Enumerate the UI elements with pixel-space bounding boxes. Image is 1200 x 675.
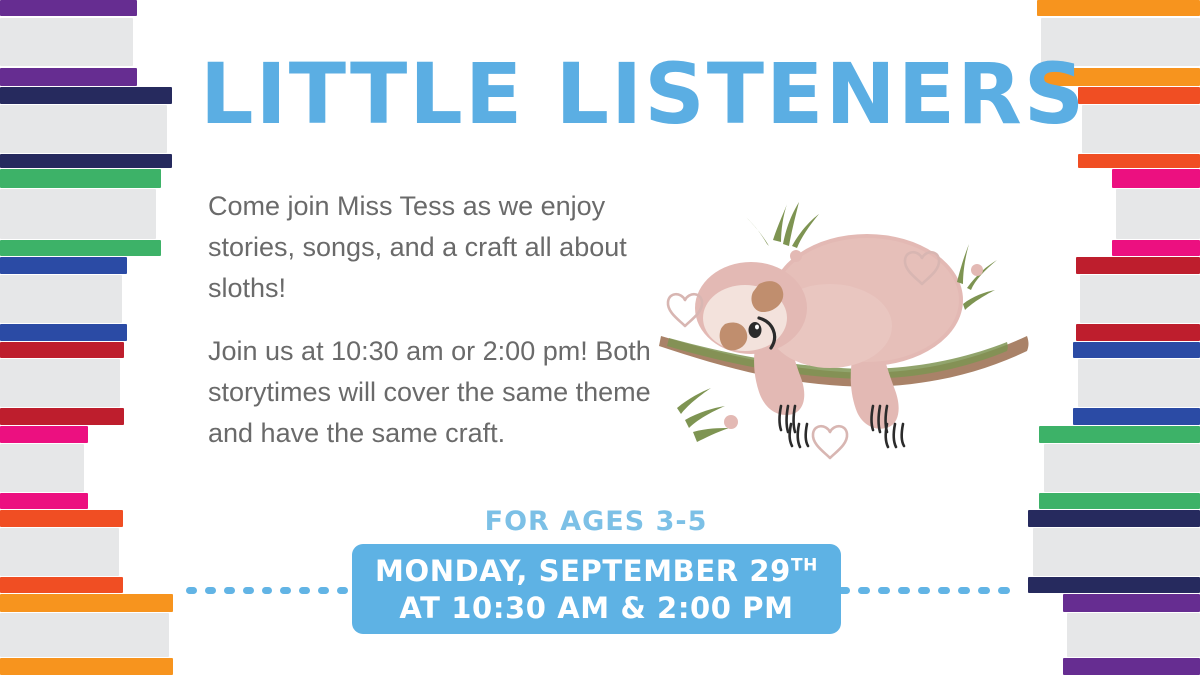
book-spine-left-4 [0, 105, 167, 153]
date-banner-date: MONDAY, SEPTEMBER 29 [375, 554, 791, 588]
leaf-sprig-right [957, 244, 997, 310]
book-spine-left-9 [0, 257, 127, 274]
heart-icon [813, 426, 847, 458]
dash-segment [186, 587, 197, 594]
dash-segment [978, 587, 990, 594]
date-ordinal-suffix: TH [791, 555, 818, 575]
dash-segment [938, 587, 950, 594]
sloth-illustration [655, 196, 1035, 464]
book-spine-left-11 [0, 324, 127, 341]
book-spine-right-9 [1076, 257, 1200, 274]
ages-label: FOR AGES 3-5 [346, 506, 846, 537]
book-spine-right-22 [1067, 613, 1200, 657]
book-spine-left-15 [0, 426, 88, 443]
date-banner: MONDAY, SEPTEMBER 29TH AT 10:30 AM & 2:0… [352, 544, 841, 634]
dash-segment [998, 587, 1010, 594]
book-spine-left-22 [0, 613, 169, 657]
book-spine-right-16 [1044, 444, 1200, 492]
dashed-rule-right [838, 587, 1018, 594]
book-spine-left-1 [0, 18, 133, 66]
book-spine-right-23 [1063, 658, 1200, 675]
book-spine-right-0 [1037, 0, 1200, 16]
dash-segment [898, 587, 910, 594]
book-spine-left-8 [0, 240, 161, 256]
book-spine-right-20 [1028, 577, 1200, 593]
book-spine-right-12 [1073, 342, 1200, 358]
book-spine-left-16 [0, 444, 84, 492]
book-spine-left-12 [0, 342, 124, 358]
book-spine-right-14 [1073, 408, 1200, 425]
leaf-sprig-top [745, 202, 819, 248]
body-paragraph-1: Come join Miss Tess as we enjoy stories,… [208, 186, 660, 309]
book-spine-left-10 [0, 275, 122, 323]
book-spine-right-7 [1116, 189, 1200, 239]
body-copy: Come join Miss Tess as we enjoy stories,… [208, 186, 660, 454]
book-spine-stack-left [0, 0, 190, 675]
dash-segment [299, 587, 310, 594]
book-spine-right-4 [1082, 105, 1200, 153]
dot-accent [790, 250, 802, 262]
book-spine-right-5 [1078, 154, 1200, 168]
dash-segment [243, 587, 254, 594]
book-spine-right-11 [1076, 324, 1200, 341]
book-spine-right-3 [1078, 87, 1200, 104]
book-spine-left-6 [0, 169, 161, 188]
dot-accent [971, 264, 983, 276]
book-spine-left-2 [0, 68, 137, 86]
body-paragraph-2: Join us at 10:30 am or 2:00 pm! Both sto… [208, 331, 660, 454]
book-spine-left-23 [0, 658, 173, 675]
dot-accent [724, 415, 738, 429]
date-banner-line-1: MONDAY, SEPTEMBER 29TH [375, 553, 818, 590]
book-spine-left-13 [0, 359, 120, 407]
book-spine-left-21 [0, 594, 173, 612]
leaf-sprig-bottom [677, 388, 729, 442]
book-spine-right-15 [1039, 426, 1200, 443]
book-spine-left-3 [0, 87, 172, 104]
poster-canvas: LITTLE LISTENERS Come join Miss Tess as … [0, 0, 1200, 675]
date-banner-line-2: AT 10:30 AM & 2:00 PM [399, 590, 793, 627]
book-spine-left-17 [0, 493, 88, 509]
dash-segment [918, 587, 930, 594]
book-spine-left-19 [0, 528, 119, 576]
book-spine-right-10 [1080, 275, 1200, 323]
dash-segment [337, 587, 348, 594]
dash-segment [878, 587, 890, 594]
book-spine-left-5 [0, 154, 172, 168]
dash-segment [280, 587, 291, 594]
dashed-rule-left [186, 587, 356, 594]
dash-segment [318, 587, 329, 594]
book-spine-left-20 [0, 577, 123, 593]
book-spine-right-19 [1033, 528, 1200, 576]
book-spine-right-6 [1112, 169, 1200, 188]
dash-segment [858, 587, 870, 594]
dash-segment [262, 587, 273, 594]
book-spine-right-21 [1063, 594, 1200, 612]
book-spine-left-14 [0, 408, 124, 425]
book-spine-right-17 [1039, 493, 1200, 509]
book-spine-left-18 [0, 510, 123, 527]
book-spine-left-0 [0, 0, 137, 16]
page-title: LITTLE LISTENERS [200, 48, 1000, 140]
book-spine-left-7 [0, 189, 156, 239]
book-spine-right-8 [1112, 240, 1200, 256]
dash-segment [205, 587, 216, 594]
dash-segment [958, 587, 970, 594]
dash-segment [224, 587, 235, 594]
book-spine-right-18 [1028, 510, 1200, 527]
book-spine-right-13 [1078, 359, 1200, 407]
